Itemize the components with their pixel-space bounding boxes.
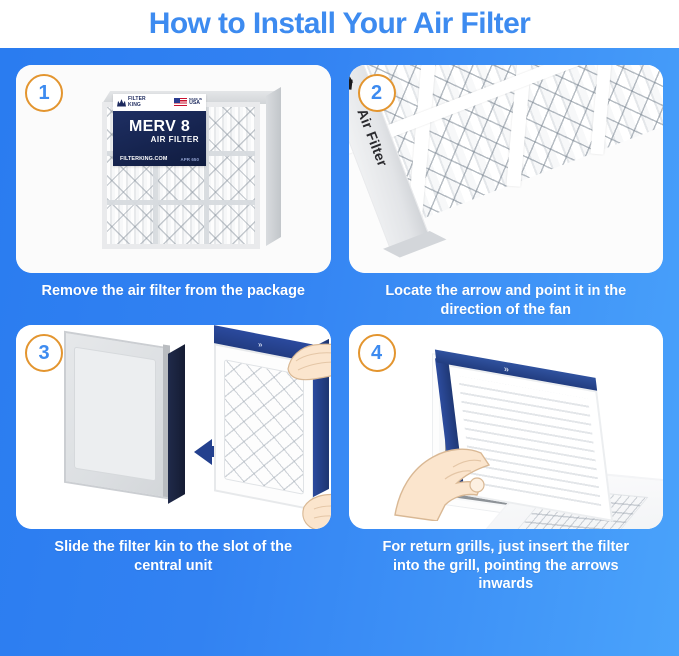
support-bar [590,65,622,155]
arrow-tail [349,79,353,90]
merv8-filter-photo: FILTER KING MADE IN USA [102,91,268,251]
step-4-caption-line-1: For return grills, just insert the filte… [359,538,654,557]
step-2-badge: 2 [358,74,396,112]
unit-inner-recess [74,347,156,482]
unit-filter-slot [168,344,185,504]
step-4-caption-line-2: into the grill, pointing the arrows [359,557,654,576]
step-4: 4 [349,325,664,594]
crown-icon [117,99,126,107]
made-in-usa-text: MADE IN USA [189,98,202,106]
infographic-root: How to Install Your Air Filter 1 [0,0,679,656]
central-unit-illustration [64,339,182,491]
step-2-caption: Locate the arrow and point it in the dir… [349,282,664,319]
step-4-image: » [349,325,664,529]
step-3-caption-line-1: Slide the filter kin to the slot of the [26,538,321,557]
arrow-head [194,439,212,465]
usa-label: USA [189,100,200,106]
header: How to Install Your Air Filter [0,0,679,48]
support-bar-horizontal [349,65,661,156]
step-3-image: » [16,325,331,529]
filter-label-sticker: FILTER KING MADE IN USA [113,94,206,166]
step-2-caption-line-2: direction of the fan [359,301,654,320]
step-1-badge: 1 [25,74,63,112]
step-2-image: AIR FLOW Air Filter [349,65,664,273]
step-2-card: 2 [349,65,664,273]
step-2: 2 [349,65,664,319]
step-1-card: 1 [16,65,331,273]
made-in-usa-block: MADE IN USA [174,98,202,106]
brand-website: FILTERKING.COM [120,156,167,162]
step-1-caption: Remove the air filter from the package [16,282,331,301]
product-type: AIR FILTER [120,136,199,144]
filter-arrow-mark: » [503,364,508,375]
step-1: 1 [16,65,331,319]
filter-side-depth [266,87,281,246]
step-3-caption-line-2: central unit [26,557,321,576]
step-3-badge: 3 [25,334,63,372]
filter-king-logo: FILTER KING [117,97,146,107]
step-4-caption-line-3: inwards [359,575,654,594]
apr-rating: APR 650 [180,157,199,162]
filter-corner-photo: AIR FLOW Air Filter [349,65,664,273]
step-4-caption: For return grills, just insert the filte… [349,538,664,594]
page-title: How to Install Your Air Filter [149,7,530,41]
step-1-image: FILTER KING MADE IN USA [16,65,331,273]
step-2-caption-line-1: Locate the arrow and point it in the [359,282,654,301]
steps-body: 1 [0,48,679,656]
step-3-card: 3 [16,325,331,529]
label-footer-row: FILTERKING.COM APR 650 [120,156,199,162]
label-main-panel: MERV 8 AIR FILTER FILTERKING.COM APR 650 [113,111,206,166]
hand-top-illustration [284,339,331,385]
brand-line-2: KING [128,103,146,108]
step-4-card: 4 [349,325,664,529]
steps-grid: 1 [16,65,663,594]
merv-rating: MERV 8 [120,119,199,135]
step-3-caption: Slide the filter kin to the slot of the … [16,538,331,575]
step-4-badge: 4 [358,334,396,372]
label-header-row: FILTER KING MADE IN USA [113,94,206,111]
brand-text: FILTER KING [128,97,146,107]
hand-bottom-illustration [302,491,331,529]
step-3: 3 [16,325,331,594]
hand-illustration [393,425,505,521]
us-flag-icon [174,98,187,106]
